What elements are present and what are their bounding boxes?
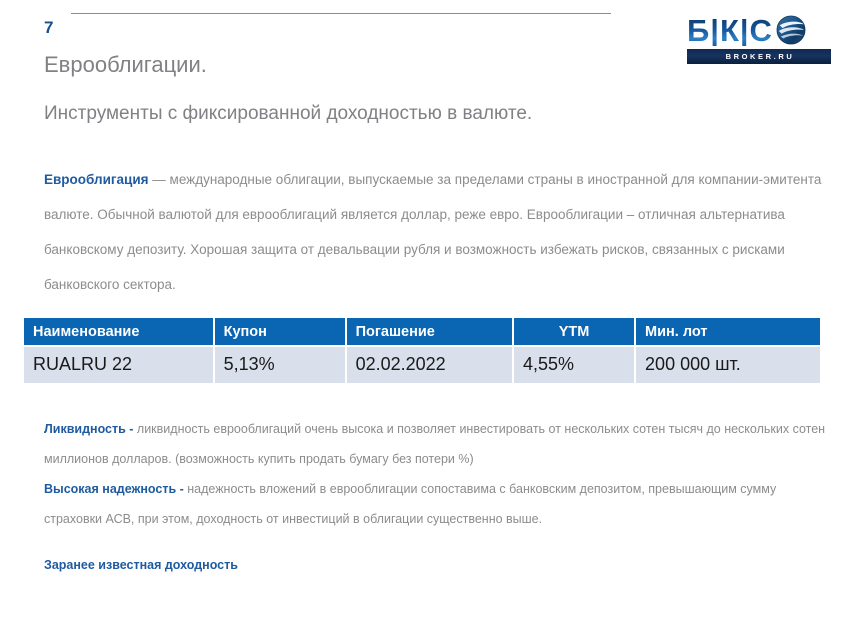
logo-tagline-bar: BROKER.RU: [687, 49, 831, 64]
column-header-maturity[interactable]: Погашение: [347, 318, 512, 345]
column-header-min-lot[interactable]: Мин. лот: [636, 318, 820, 345]
cell-maturity: 02.02.2022: [347, 347, 512, 383]
page-title: Еврооблигации.: [44, 52, 207, 78]
page-number: 7: [44, 18, 53, 38]
bond-table: Наименование Купон Погашение YTM Мин. ло…: [22, 316, 822, 385]
column-header-name[interactable]: Наименование: [24, 318, 213, 345]
benefits-list: Ликвидность - ликвидность еврооблигаций …: [44, 414, 834, 580]
page-subtitle: Инструменты с фиксированной доходностью …: [44, 103, 532, 125]
column-header-coupon[interactable]: Купон: [215, 318, 345, 345]
slide-root: { "slide": { "page_number": "7", "title"…: [0, 0, 847, 635]
bcs-logo: Б|К|С BROKER.RU: [687, 14, 831, 64]
column-header-ytm[interactable]: YTM: [514, 318, 634, 345]
intro-lead: Еврооблигация: [44, 172, 149, 187]
globe-icon: [776, 15, 806, 45]
cell-coupon: 5,13%: [215, 347, 345, 383]
intro-paragraph: Еврооблигация — международные облигации,…: [44, 162, 830, 302]
intro-body: — международные облигации, выпускаемые з…: [44, 172, 821, 292]
benefit-known-yield-lead: Заранее известная доходность: [44, 558, 238, 572]
logo-lockup: Б|К|С: [687, 14, 831, 46]
logo-tagline: BROKER.RU: [724, 52, 795, 61]
cell-name: RUALRU 22: [24, 347, 213, 383]
logo-wordmark: Б|К|С: [687, 16, 775, 46]
benefit-reliability-lead: Высокая надежность -: [44, 482, 184, 496]
benefit-liquidity: Ликвидность - ликвидность еврооблигаций …: [44, 414, 834, 474]
benefit-liquidity-lead: Ликвидность -: [44, 422, 133, 436]
table-row: RUALRU 22 5,13% 02.02.2022 4,55% 200 000…: [24, 347, 820, 383]
benefit-known-yield: Заранее известная доходность: [44, 550, 834, 580]
benefit-liquidity-body: ликвидность еврооблигаций очень высока и…: [44, 422, 825, 466]
cell-ytm: 4,55%: [514, 347, 634, 383]
table-header-row: Наименование Купон Погашение YTM Мин. ло…: [24, 318, 820, 345]
benefit-reliability: Высокая надежность - надежность вложений…: [44, 474, 834, 534]
header-divider: [71, 13, 611, 14]
cell-min-lot: 200 000 шт.: [636, 347, 820, 383]
